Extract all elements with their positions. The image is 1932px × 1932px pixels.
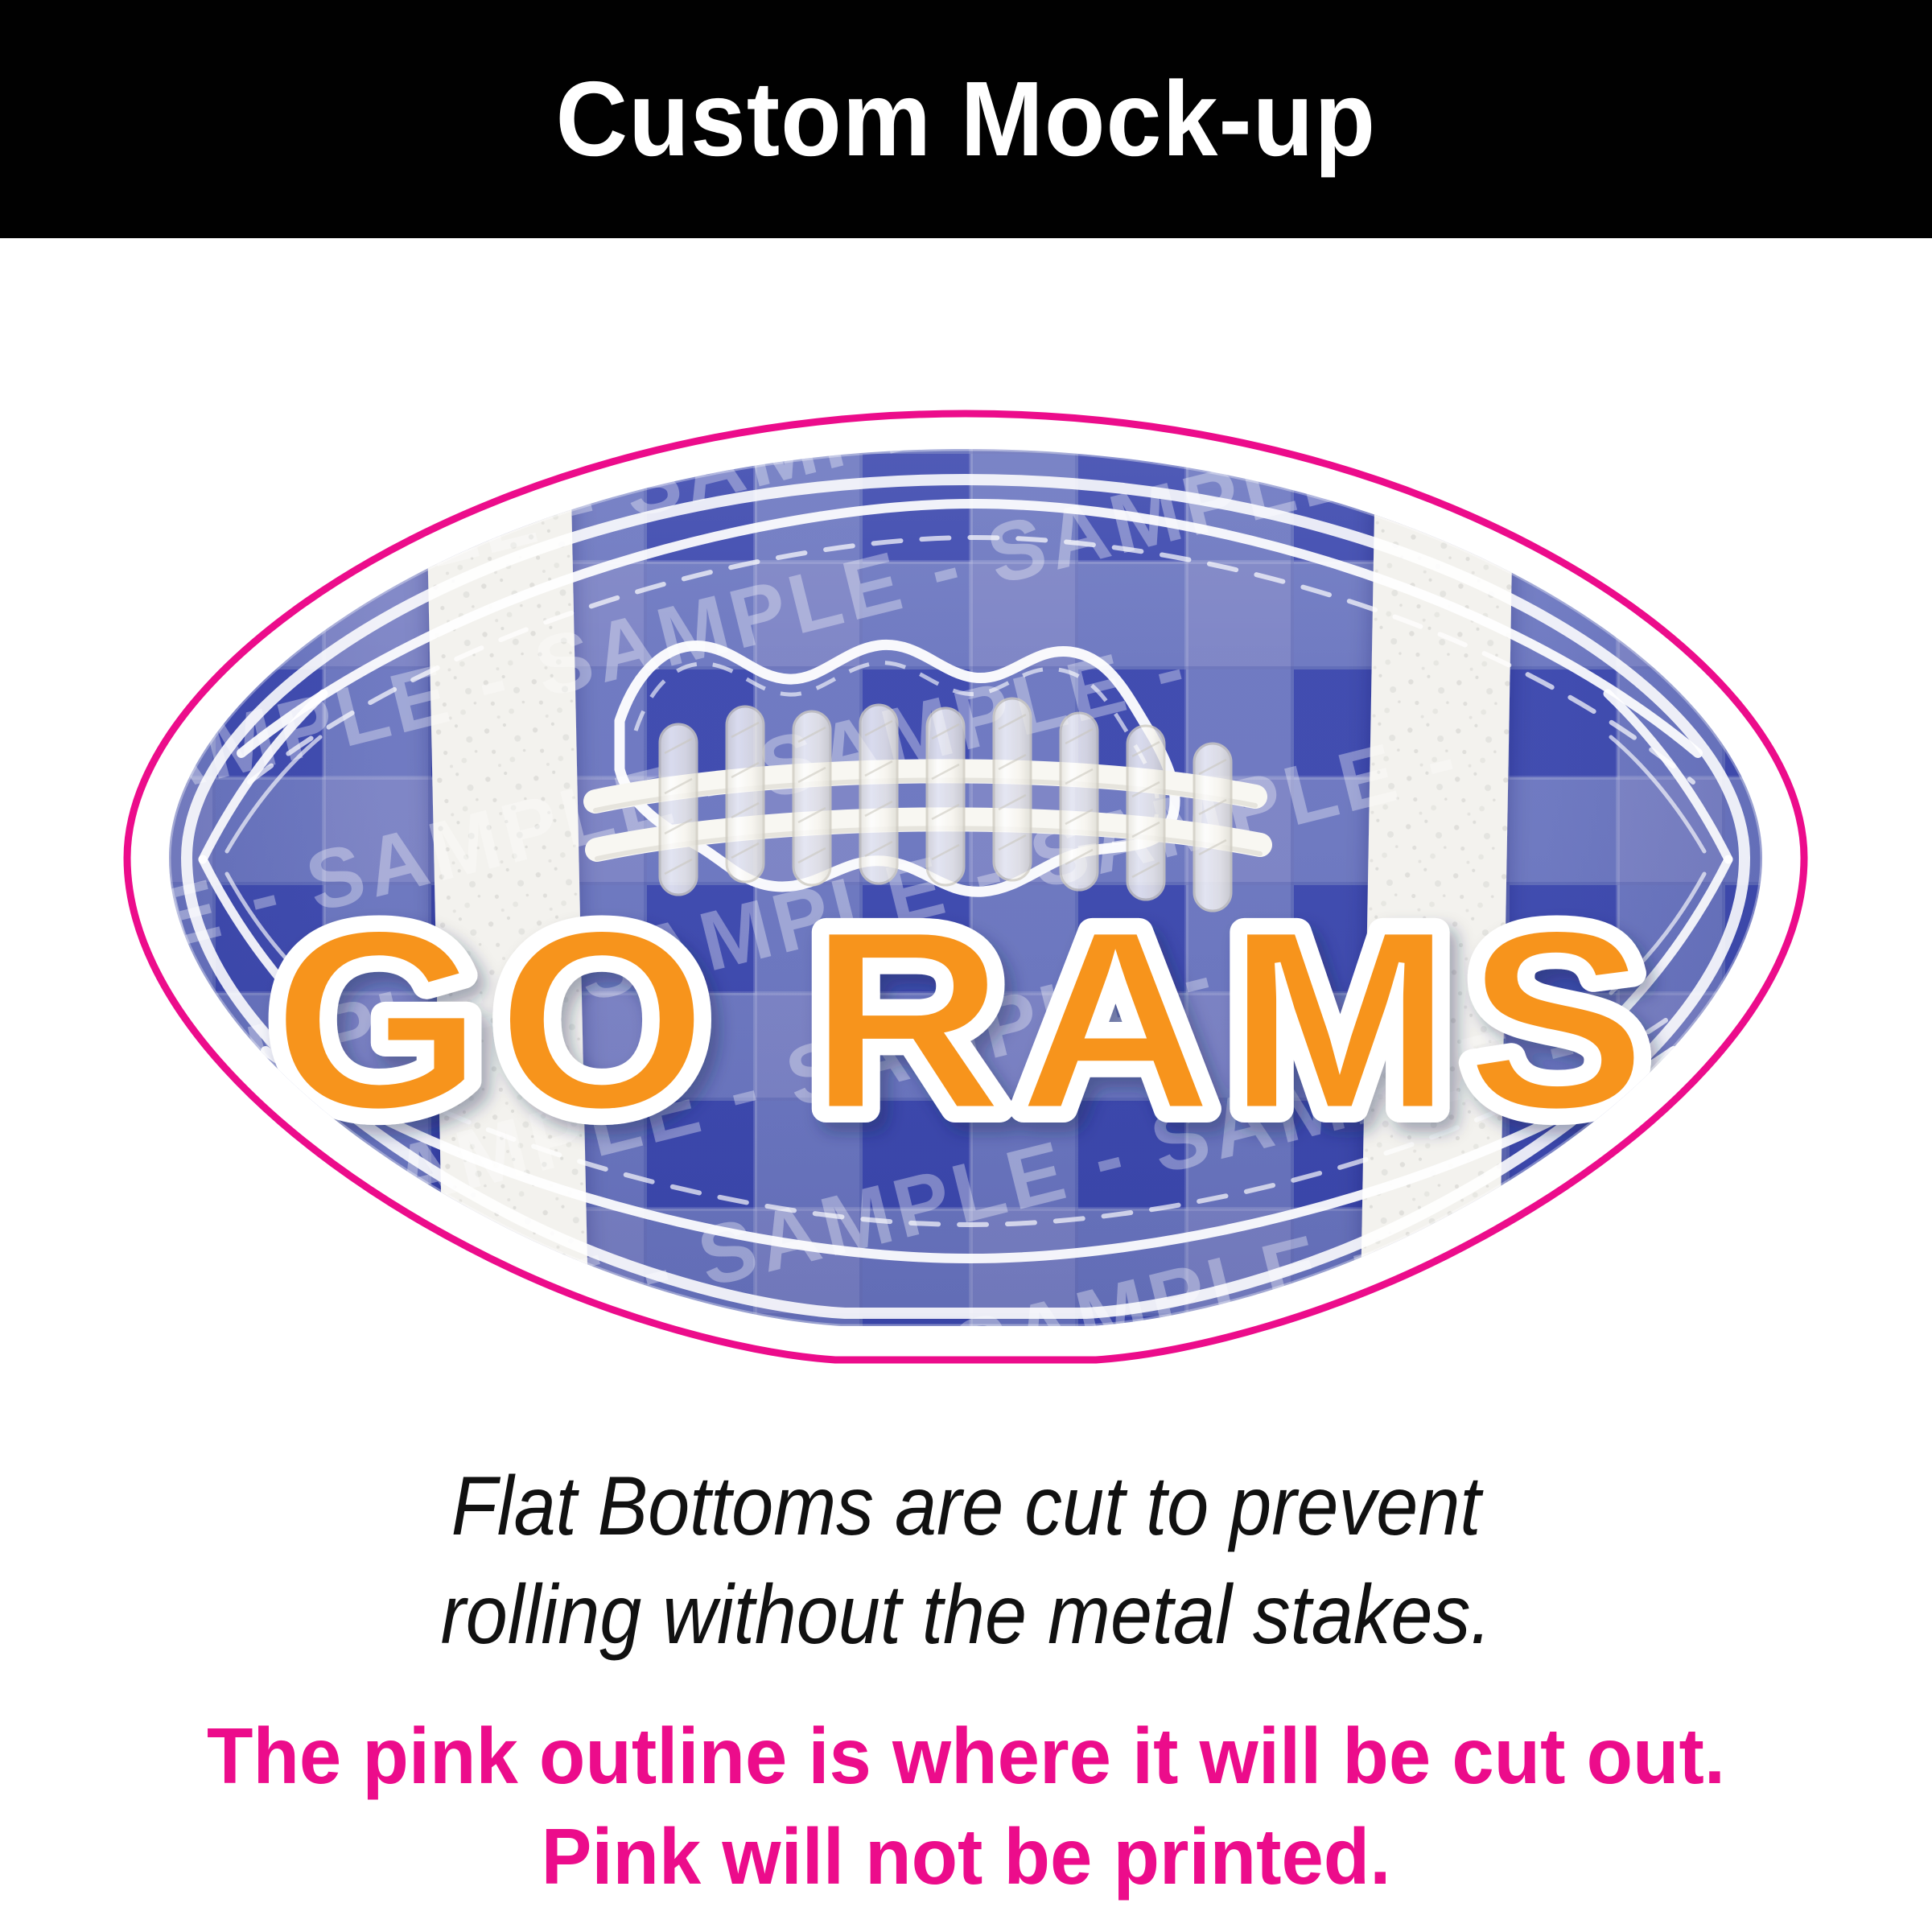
header-bar: Custom Mock-up (0, 0, 1932, 238)
pink-outline-warning: The pink outline is where it will be cut… (39, 1706, 1893, 1908)
football-mockup-graphic: SAMPLE - SAMPLE - SAMPLE - SAMPLE - SAMP… (0, 238, 1932, 1477)
flat-bottom-note-line2: rolling without the metal stakes. (97, 1561, 1835, 1670)
flat-bottom-note-line1: Flat Bottoms are cut to prevent (97, 1452, 1835, 1561)
football-body: SAMPLE - SAMPLE - SAMPLE - SAMPLE - SAMP… (0, 238, 1932, 1477)
flat-bottom-note: Flat Bottoms are cut to prevent rolling … (97, 1452, 1835, 1670)
go-rams-inner-stroke: GO RAMS (272, 876, 1659, 1164)
go-rams-text: GO RAMS GO RAMS GO RAMS (272, 876, 1659, 1164)
mockup-stage: SAMPLE - SAMPLE - SAMPLE - SAMPLE - SAMP… (0, 238, 1932, 1477)
pink-outline-warning-line1: The pink outline is where it will be cut… (39, 1706, 1893, 1806)
pink-outline-warning-line2: Pink will not be printed. (39, 1806, 1893, 1907)
mockup-page: Custom Mock-up (0, 0, 1932, 1932)
page-title: Custom Mock-up (556, 66, 1377, 172)
